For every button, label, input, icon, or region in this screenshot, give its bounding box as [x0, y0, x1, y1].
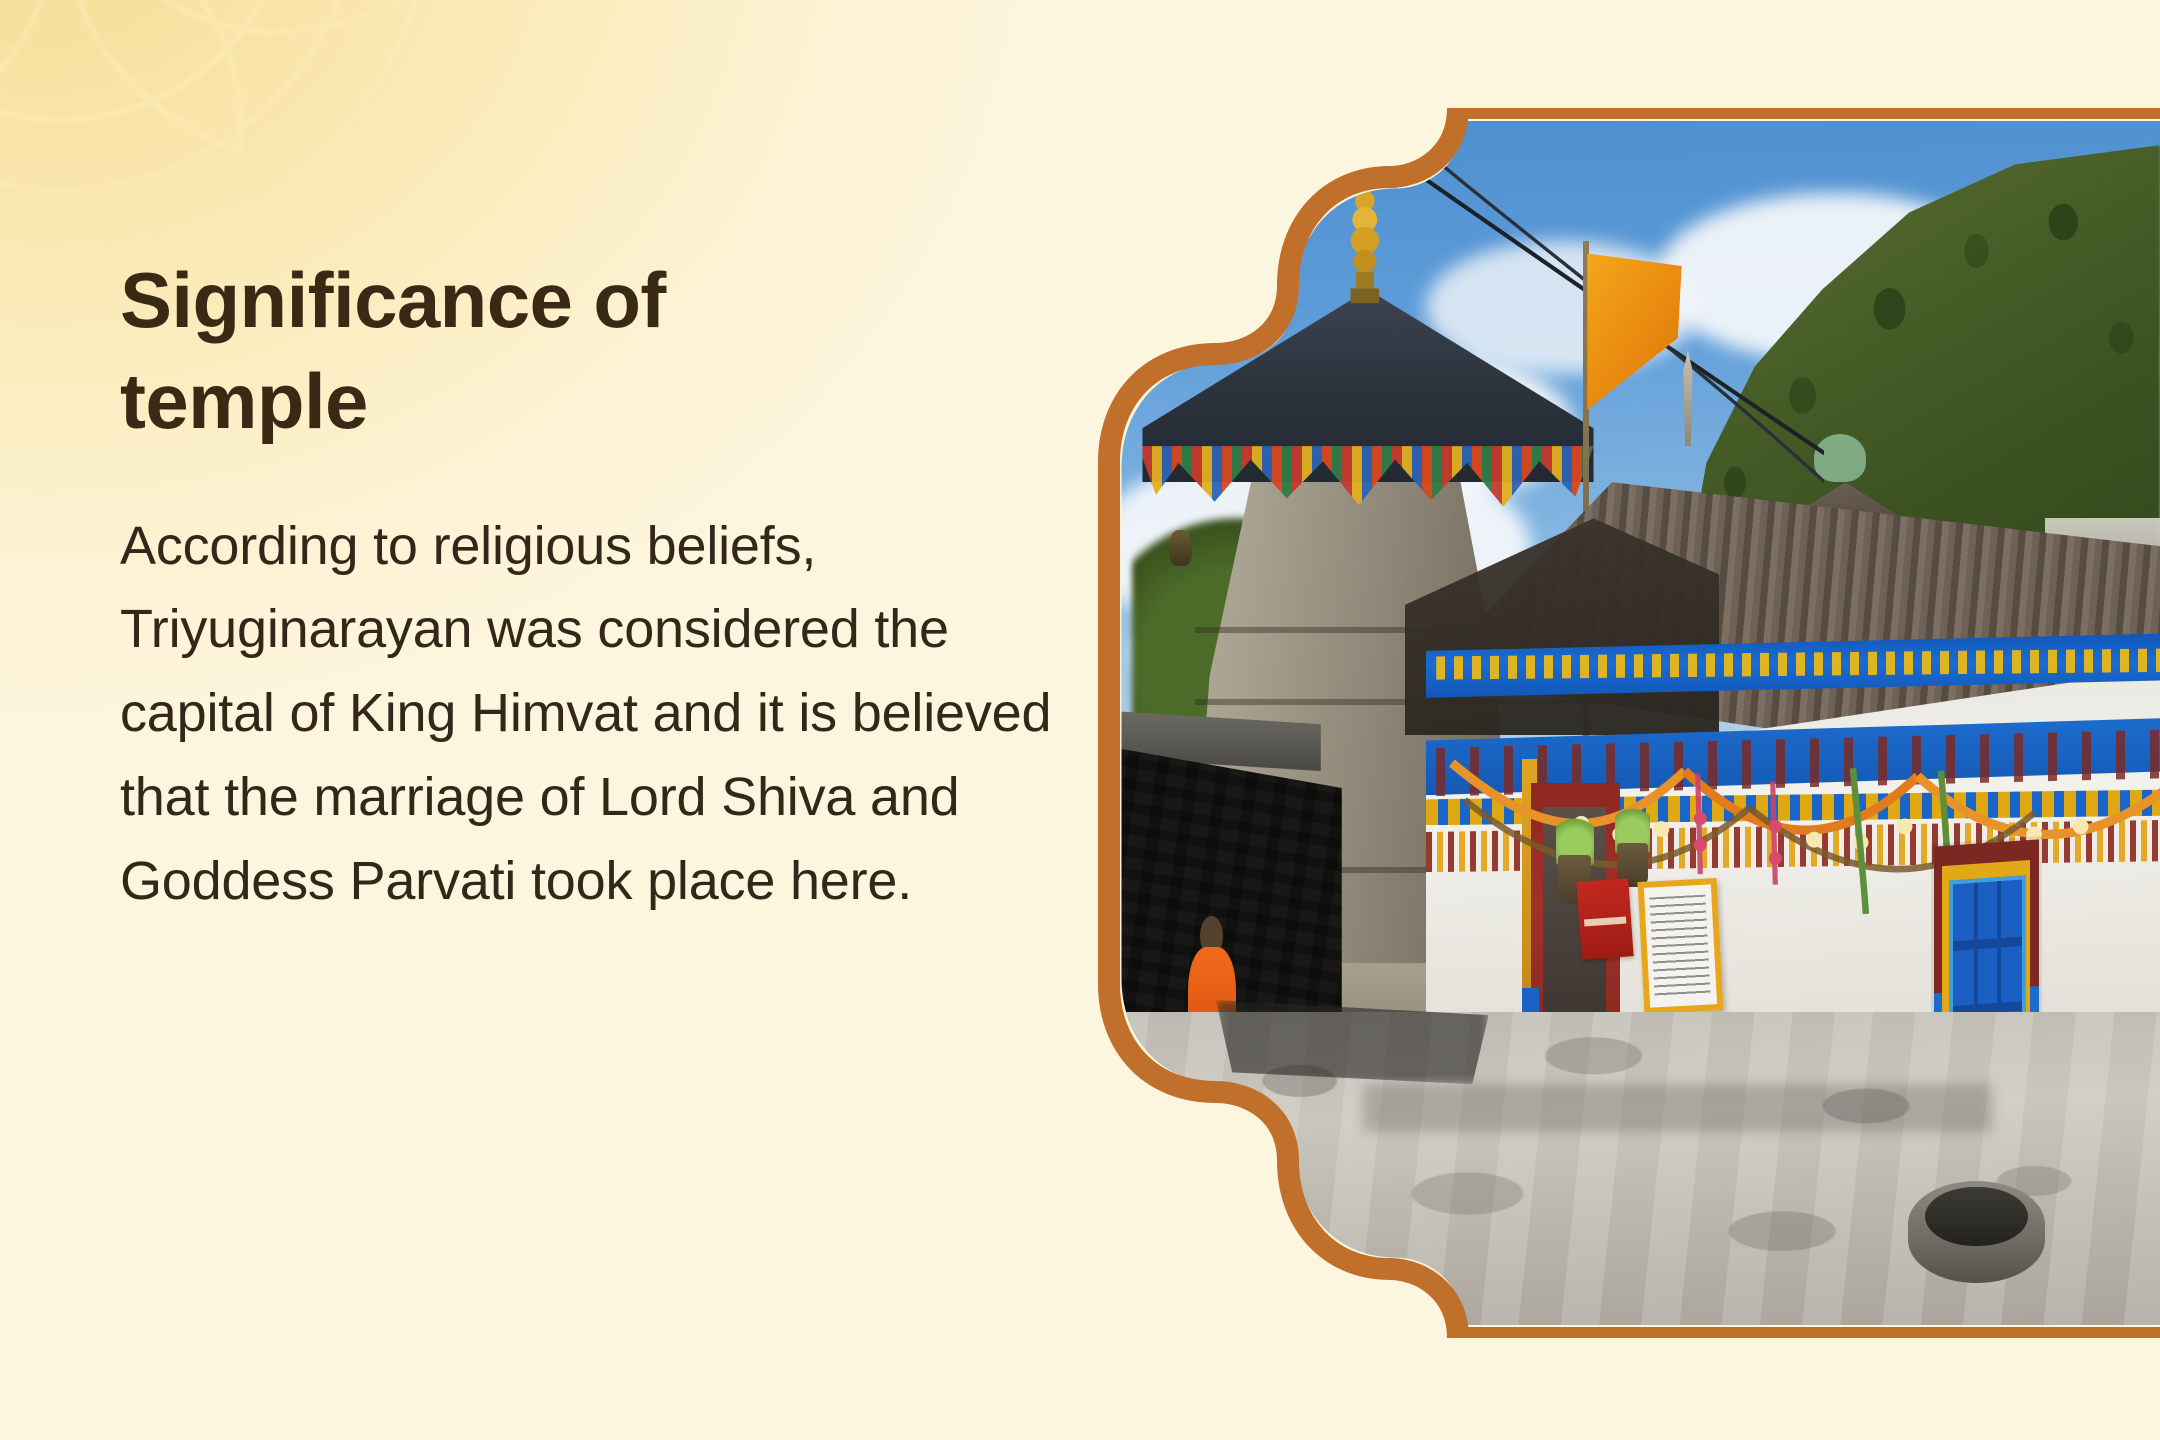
text-column: Significance of temple According to reli… [120, 250, 1080, 923]
ornate-frame-border [1098, 108, 2160, 1338]
temple-photo-frame [1098, 108, 2160, 1338]
page-title: Significance of temple [120, 250, 1080, 453]
body-paragraph: According to religious beliefs, Triyugin… [120, 505, 1065, 923]
